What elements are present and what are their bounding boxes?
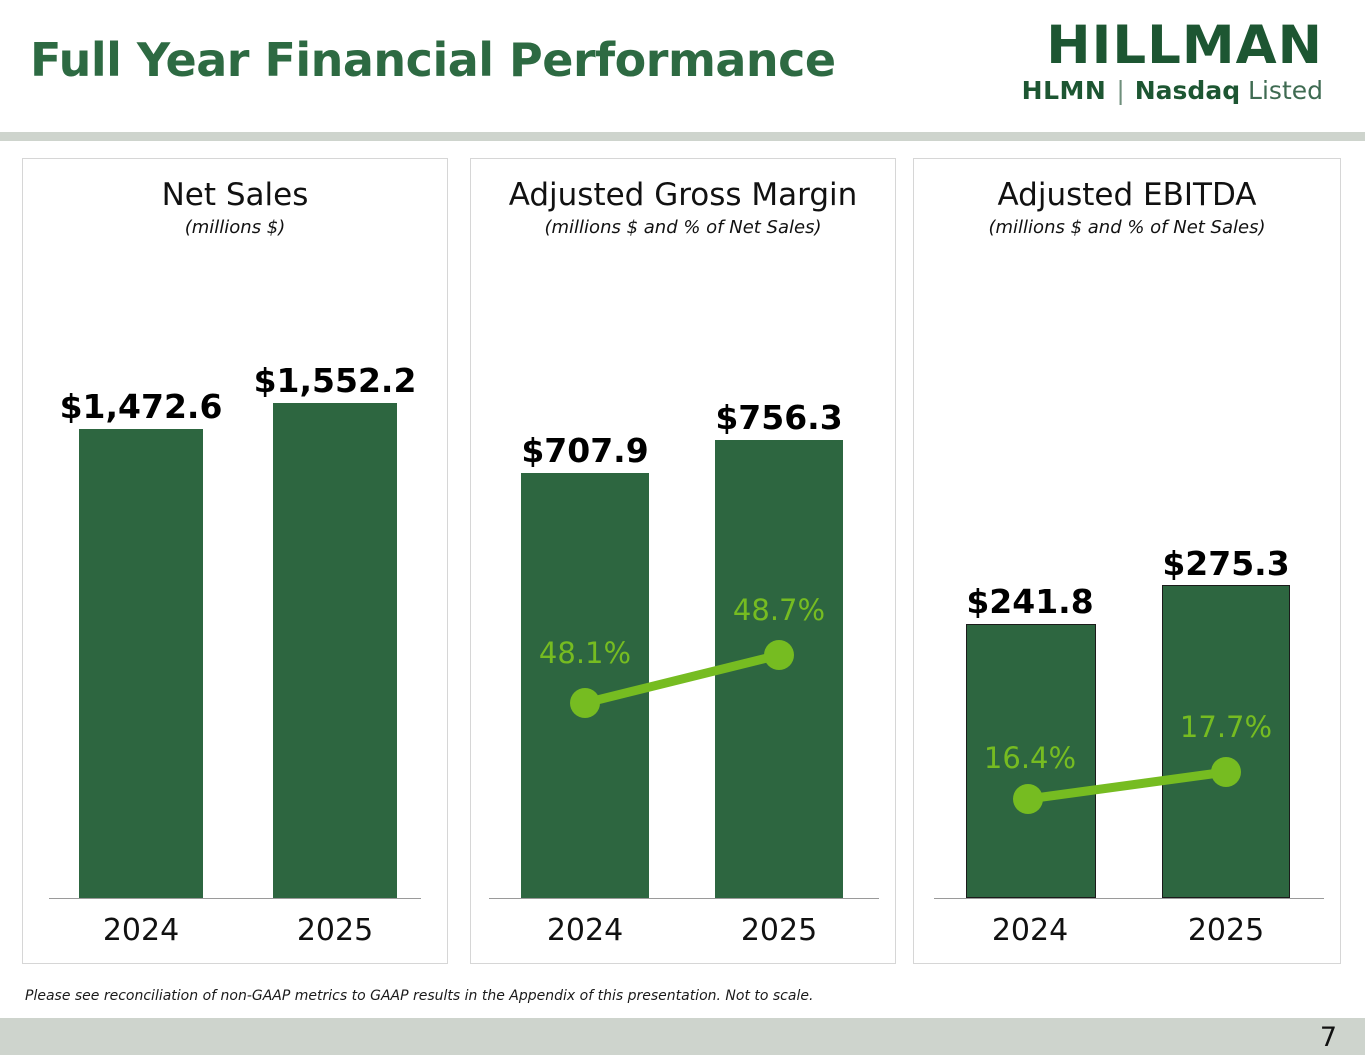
header-divider xyxy=(0,132,1365,141)
logo-listed: Listed xyxy=(1248,76,1323,105)
pct-label-2025: 48.7% xyxy=(689,593,869,627)
page-title: Full Year Financial Performance xyxy=(30,33,836,87)
bar-value-2024: $241.8 xyxy=(916,582,1144,621)
plot-area: $1,472.6 $1,552.2 2024 2025 xyxy=(23,159,447,963)
pct-label-2024: 16.4% xyxy=(940,741,1120,775)
chart-panel-net-sales: Net Sales (millions $) $1,472.6 $1,552.2… xyxy=(22,158,448,964)
x-label-2024: 2024 xyxy=(960,913,1100,948)
plot-area: $241.8 $275.3 16.4% 17.7% 2024 2025 xyxy=(914,159,1340,963)
bar-2024 xyxy=(521,473,649,898)
x-label-2024: 2024 xyxy=(71,913,211,948)
bar-value-2024: $1,472.6 xyxy=(49,387,233,426)
logo-ticker: HLMN xyxy=(1022,76,1107,105)
pct-label-2025: 17.7% xyxy=(1136,710,1316,744)
bar-2024 xyxy=(79,429,203,898)
pct-label-2024: 48.1% xyxy=(495,636,675,670)
logo-subline: HLMN|Nasdaq Listed xyxy=(963,76,1323,106)
bar-2025 xyxy=(715,440,843,898)
x-label-2025: 2025 xyxy=(709,913,849,948)
logo-wordmark: HILLMAN xyxy=(963,18,1323,74)
x-axis-line xyxy=(934,898,1324,899)
charts-row: Net Sales (millions $) $1,472.6 $1,552.2… xyxy=(0,158,1365,970)
page-number: 7 xyxy=(1320,1022,1337,1053)
bar-2025 xyxy=(273,403,397,898)
footnote: Please see reconciliation of non-GAAP me… xyxy=(25,988,813,1004)
bar-value-2025: $1,552.2 xyxy=(243,361,427,400)
bar-value-2025: $756.3 xyxy=(667,398,891,437)
x-label-2025: 2025 xyxy=(1156,913,1296,948)
x-label-2024: 2024 xyxy=(515,913,655,948)
x-axis-line xyxy=(489,898,879,899)
slide: Full Year Financial Performance HILLMAN … xyxy=(0,0,1365,1055)
x-axis-line xyxy=(49,898,421,899)
bar-value-2024: $707.9 xyxy=(471,431,699,470)
x-label-2025: 2025 xyxy=(265,913,405,948)
logo-divider: | xyxy=(1116,76,1124,105)
logo-exchange: Nasdaq xyxy=(1135,76,1240,105)
chart-panel-adjusted-ebitda: Adjusted EBITDA (millions $ and % of Net… xyxy=(913,158,1341,964)
footer-bar xyxy=(0,1018,1365,1055)
hillman-logo: HILLMAN HLMN|Nasdaq Listed xyxy=(963,18,1323,113)
bar-value-2025: $275.3 xyxy=(1114,544,1338,583)
chart-panel-adjusted-gross-margin: Adjusted Gross Margin (millions $ and % … xyxy=(470,158,896,964)
plot-area: $707.9 $756.3 48.1% 48.7% 2024 2025 xyxy=(471,159,895,963)
